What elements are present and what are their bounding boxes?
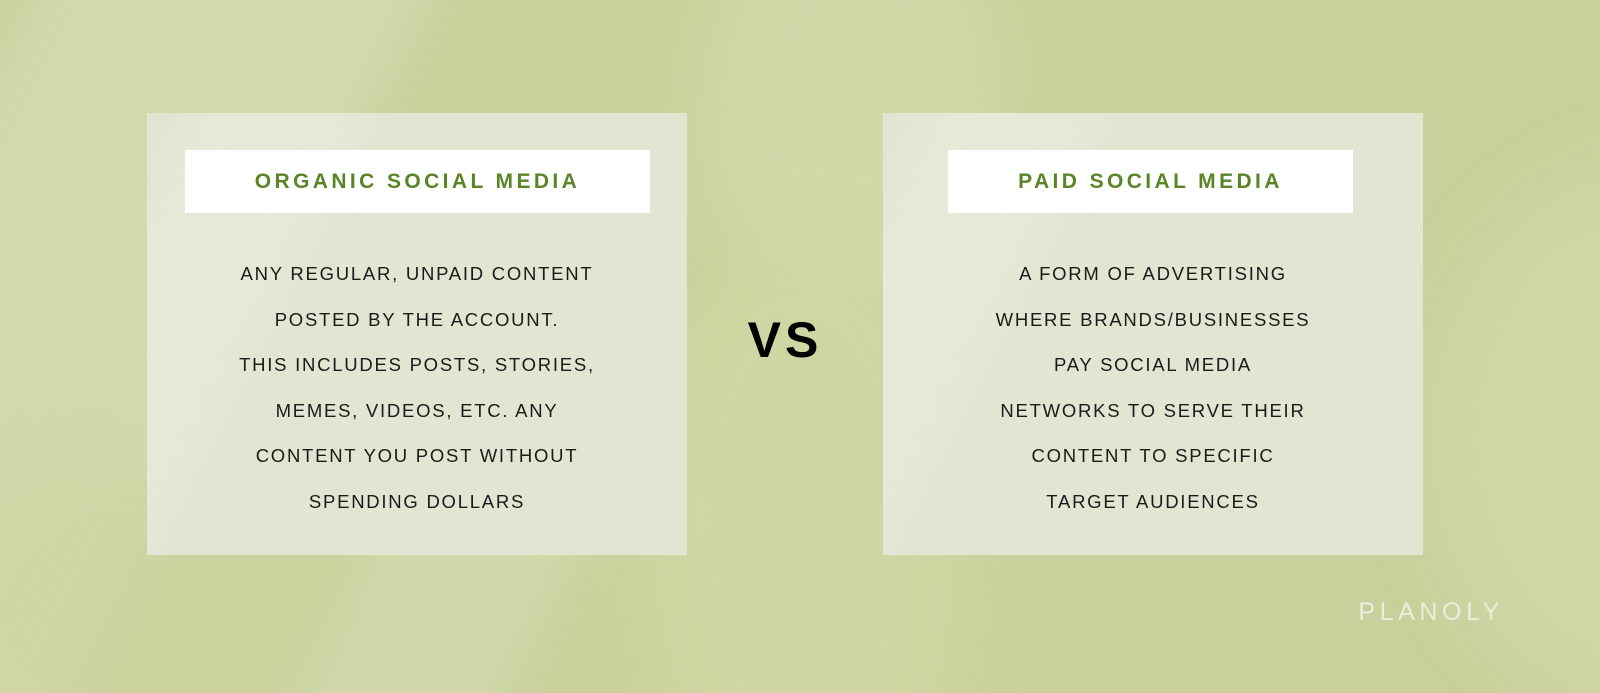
card-paid-body-line: TARGET AUDIENCES: [883, 479, 1423, 525]
card-paid-body-line: CONTENT TO SPECIFIC: [883, 433, 1423, 479]
comparison-graphic: ORGANIC SOCIAL MEDIA ANY REGULAR, UNPAID…: [0, 0, 1600, 693]
card-organic-header: ORGANIC SOCIAL MEDIA: [185, 150, 650, 213]
card-organic-title: ORGANIC SOCIAL MEDIA: [255, 170, 580, 194]
card-paid-body-line: PAY SOCIAL MEDIA: [883, 342, 1423, 388]
card-paid-body-line: NETWORKS TO SERVE THEIR: [883, 388, 1423, 434]
card-paid-body-line: A FORM OF ADVERTISING: [883, 251, 1423, 297]
card-organic-body-line: SPENDING DOLLARS: [147, 479, 687, 525]
card-paid-inner: PAID SOCIAL MEDIA A FORM OF ADVERTISING …: [883, 113, 1423, 555]
card-organic-body-line: CONTENT YOU POST WITHOUT: [147, 433, 687, 479]
card-organic-body-line: MEMES, VIDEOS, ETC. ANY: [147, 388, 687, 434]
card-organic-body-line: POSTED BY THE ACCOUNT.: [147, 297, 687, 343]
card-organic-body-line: THIS INCLUDES POSTS, STORIES,: [147, 342, 687, 388]
card-organic-body: ANY REGULAR, UNPAID CONTENT POSTED BY TH…: [147, 251, 687, 525]
card-paid-body-line: WHERE BRANDS/BUSINESSES: [883, 297, 1423, 343]
card-paid-header: PAID SOCIAL MEDIA: [948, 150, 1353, 213]
card-organic-inner: ORGANIC SOCIAL MEDIA ANY REGULAR, UNPAID…: [147, 113, 687, 555]
versus-label: VS: [687, 300, 883, 380]
brand-wordmark: PLANOLY: [1358, 600, 1504, 625]
card-organic-body-line: ANY REGULAR, UNPAID CONTENT: [147, 251, 687, 297]
card-organic-social-media: ORGANIC SOCIAL MEDIA ANY REGULAR, UNPAID…: [147, 113, 687, 555]
card-paid-body: A FORM OF ADVERTISING WHERE BRANDS/BUSIN…: [883, 251, 1423, 525]
card-paid-social-media: PAID SOCIAL MEDIA A FORM OF ADVERTISING …: [883, 113, 1423, 555]
card-paid-title: PAID SOCIAL MEDIA: [1018, 170, 1283, 194]
